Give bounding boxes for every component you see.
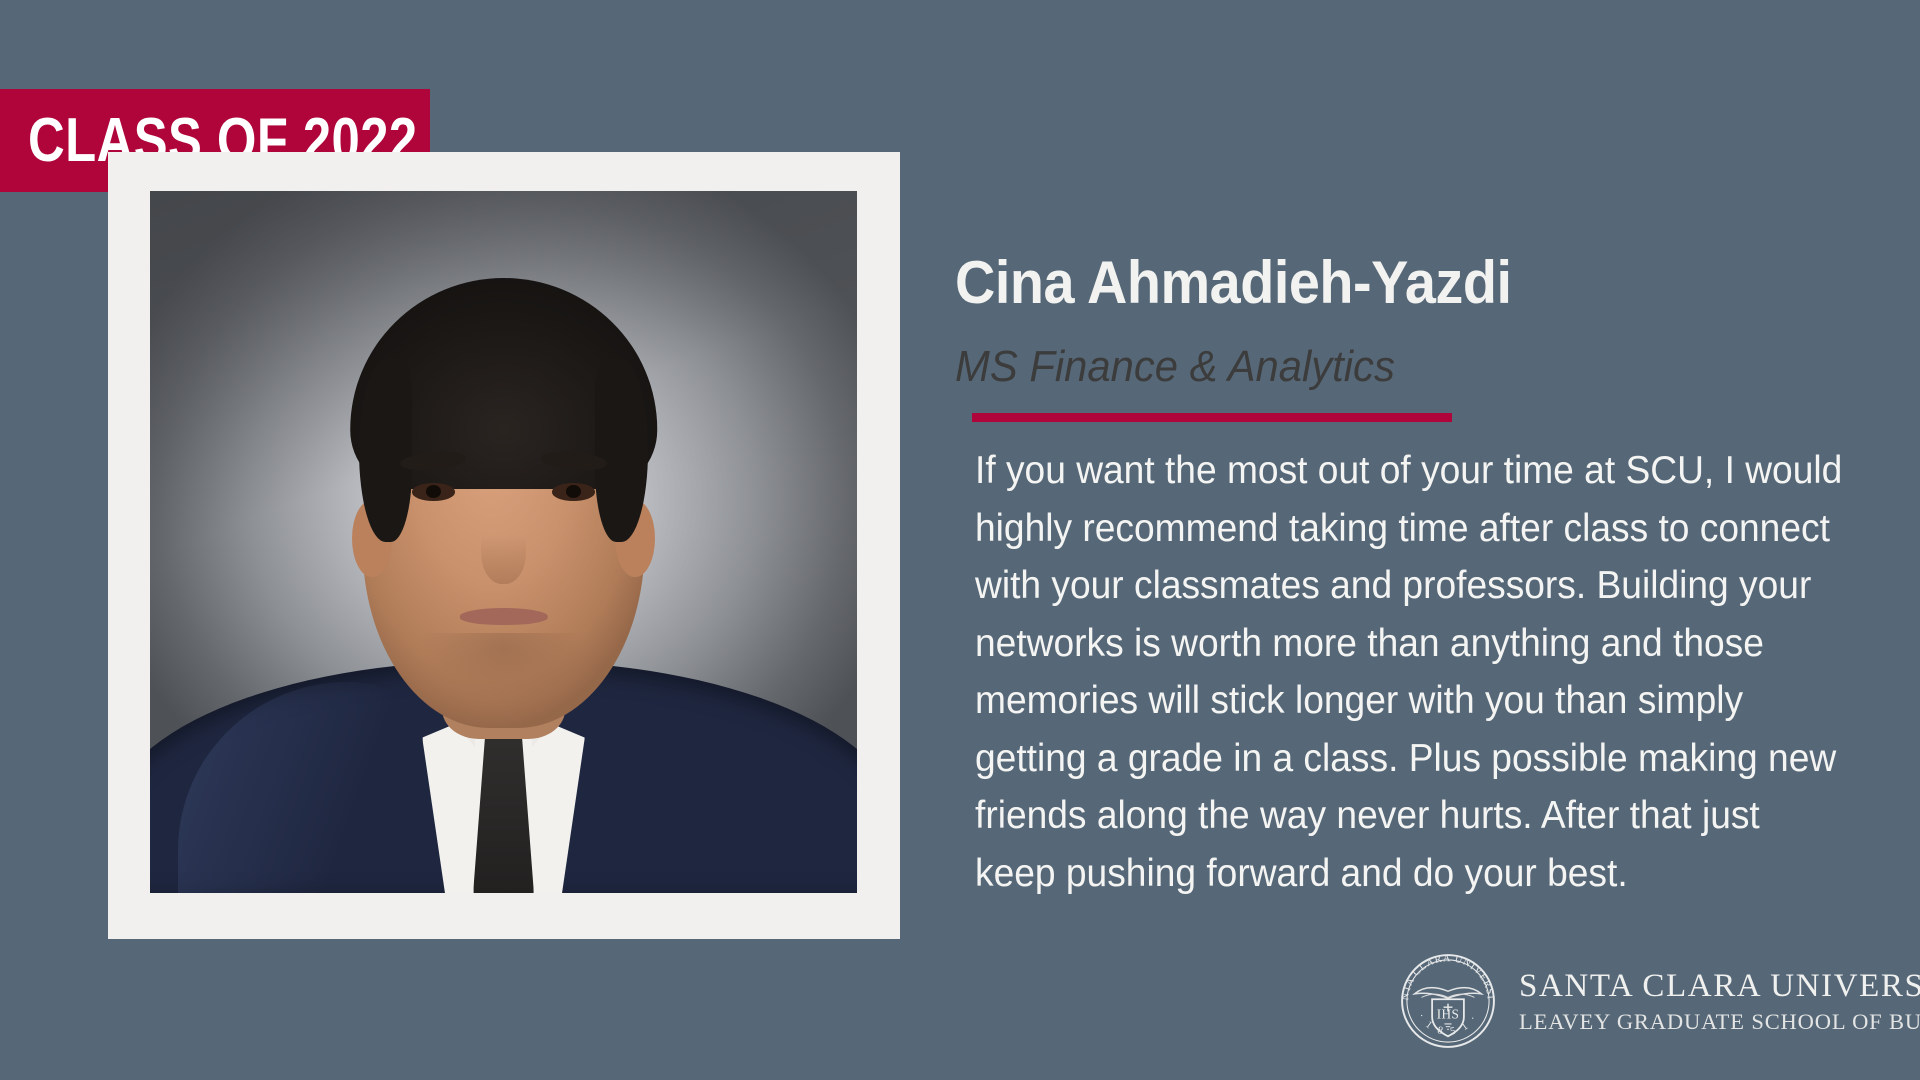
person-quote: If you want the most out of your time at… <box>975 442 1848 902</box>
mouth <box>459 608 547 625</box>
scu-logo-wordmark: SANTA CLARA UNIVERSITY LEAVEY GRADUATE S… <box>1519 967 1920 1035</box>
profile-info-column: Cina Ahmadieh-Yazdi MS Finance & Analyti… <box>955 0 1855 1080</box>
graduate-spotlight-card: CLASS OF 2022 <box>0 0 1920 1080</box>
nose <box>481 514 527 584</box>
scu-logo-school: LEAVEY GRADUATE SCHOOL OF BUSINESS <box>1519 1008 1920 1035</box>
hair-side-left <box>359 359 412 542</box>
scu-logo-lockup: SANTA CLARA UNIVERSITY · 1 8 5 1 · IHS S… <box>1395 948 1920 1054</box>
scu-logo-university: SANTA CLARA UNIVERSITY <box>1519 969 1920 1005</box>
portrait-photo <box>150 191 857 893</box>
accent-rule <box>972 413 1452 422</box>
scu-seal-icon: SANTA CLARA UNIVERSITY · 1 8 5 1 · IHS <box>1395 948 1501 1054</box>
portrait-frame <box>108 152 900 939</box>
hair-side-right <box>595 359 648 542</box>
chin-shadow <box>419 633 589 703</box>
person-degree: MS Finance & Analytics <box>955 345 1395 389</box>
person-name: Cina Ahmadieh-Yazdi <box>955 253 1512 313</box>
